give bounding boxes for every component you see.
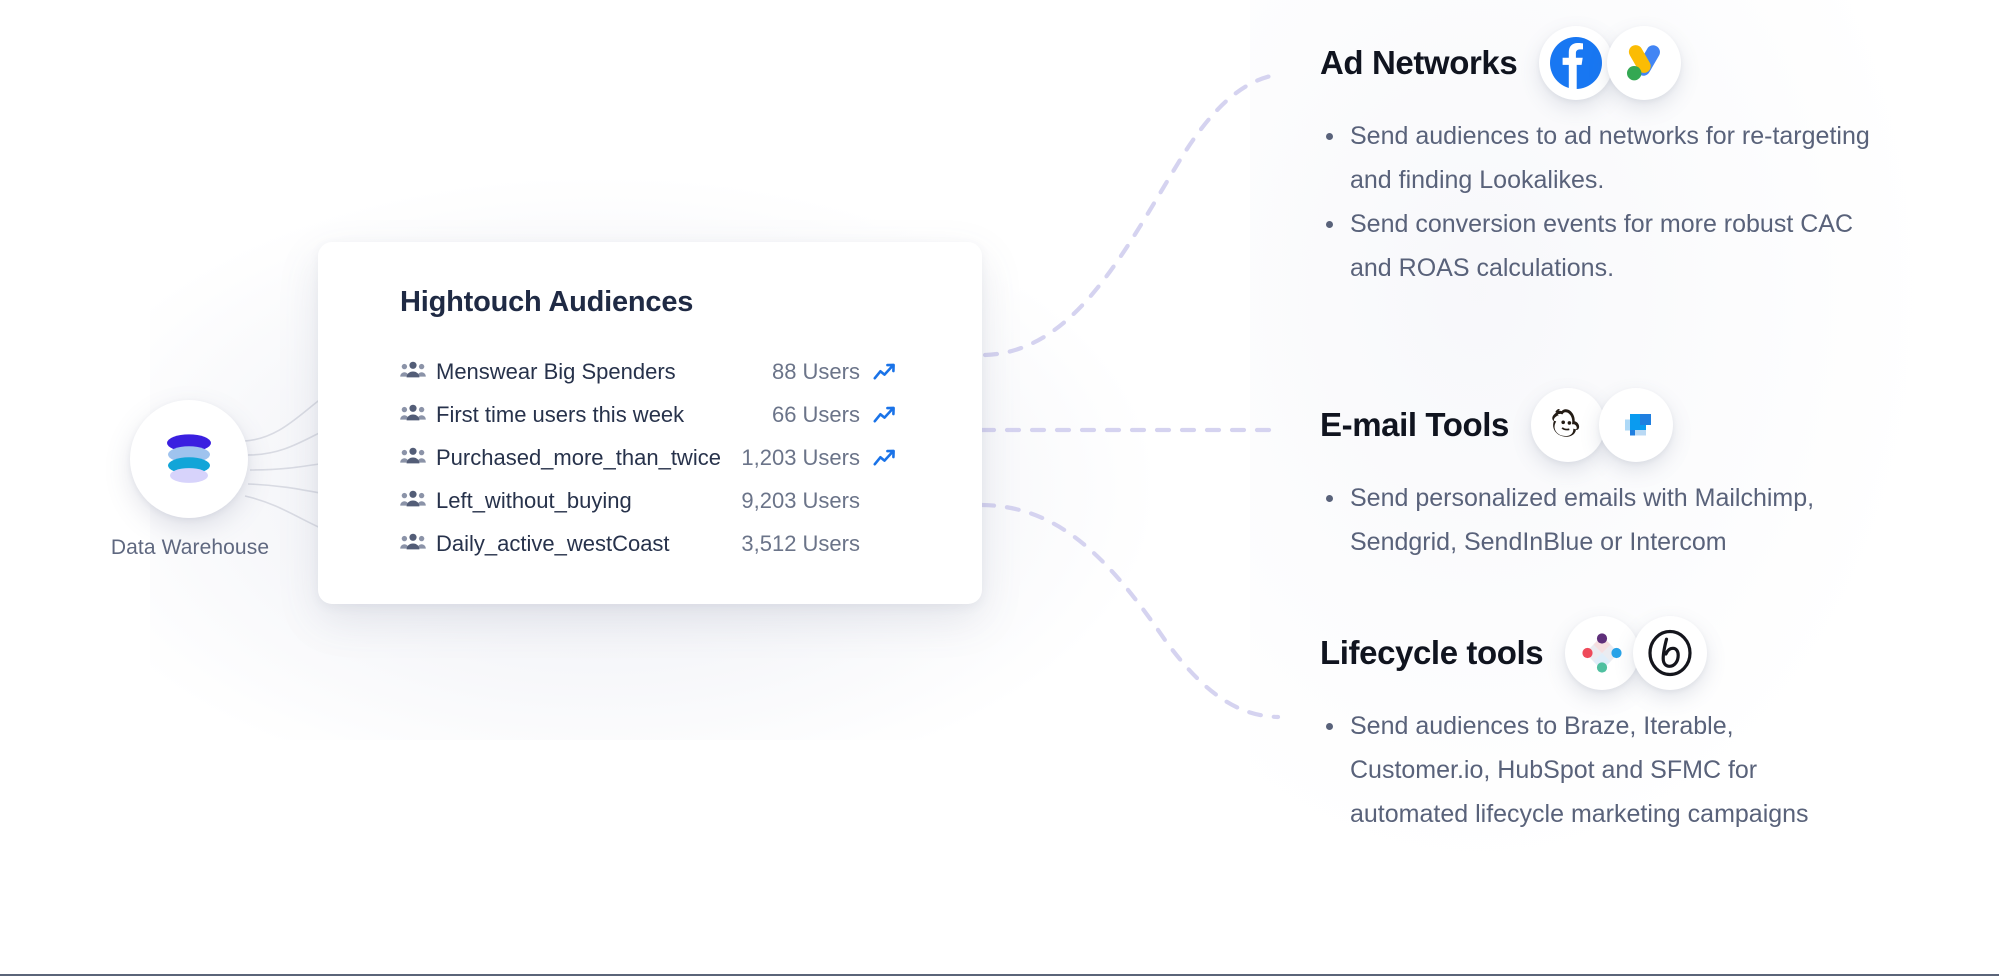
logo-group <box>1539 26 1681 100</box>
trending-up-icon <box>870 449 900 467</box>
bullet-item: Send conversion events for more robust C… <box>1320 202 1880 290</box>
logo-group <box>1531 388 1673 462</box>
bullet-item: Send personalized emails with Mailchimp,… <box>1320 476 1880 564</box>
database-icon <box>158 428 220 490</box>
people-group-icon <box>400 447 430 470</box>
audience-count: 9,203 Users <box>741 488 860 514</box>
section-bullets: Send audiences to ad networks for re-tar… <box>1320 114 1960 290</box>
audience-name: Purchased_more_than_twice <box>436 445 721 471</box>
audience-count: 66 Users <box>772 402 860 428</box>
trending-up-icon <box>870 535 900 553</box>
audience-name: Left_without_buying <box>436 488 632 514</box>
audience-row[interactable]: Purchased_more_than_twice1,203 Users <box>400 436 900 480</box>
audience-count: 3,512 Users <box>741 531 860 557</box>
braze-logo[interactable] <box>1633 616 1707 690</box>
audience-count: 88 Users <box>772 359 860 385</box>
audience-name: Daily_active_westCoast <box>436 531 670 557</box>
section-title: Lifecycle tools <box>1320 634 1543 672</box>
card-title: Hightouch Audiences <box>400 286 693 319</box>
section-title: E-mail Tools <box>1320 406 1509 444</box>
people-group-icon <box>400 361 430 384</box>
google-ads-logo[interactable] <box>1607 26 1681 100</box>
audience-count: 1,203 Users <box>741 445 860 471</box>
section-bullets: Send personalized emails with Mailchimp,… <box>1320 476 1960 564</box>
audience-row[interactable]: First time users this week66 Users <box>400 393 900 437</box>
section-lifecycle-tools: Lifecycle tools <box>1320 608 1960 836</box>
section-title: Ad Networks <box>1320 44 1517 82</box>
sendinblue-logo[interactable] <box>1599 388 1673 462</box>
audience-name: First time users this week <box>436 402 684 428</box>
logo-group <box>1565 616 1707 690</box>
audience-row[interactable]: Daily_active_westCoast3,512 Users <box>400 522 900 566</box>
people-group-icon <box>400 533 430 556</box>
trending-up-icon <box>870 406 900 424</box>
people-group-icon <box>400 404 430 427</box>
trending-up-icon <box>870 363 900 381</box>
trending-up-icon <box>870 492 900 510</box>
people-group-icon <box>400 490 430 513</box>
mailchimp-logo[interactable] <box>1531 388 1605 462</box>
bullet-item: Send audiences to Braze, Iterable, Custo… <box>1320 704 1880 836</box>
audience-row[interactable]: Menswear Big Spenders88 Users <box>400 350 900 394</box>
section-bullets: Send audiences to Braze, Iterable, Custo… <box>1320 704 1960 836</box>
connector-to-ad-networks <box>985 75 1275 355</box>
section-header: Lifecycle tools <box>1320 608 1960 698</box>
section-email-tools: E-mail Tools <box>1320 380 1960 564</box>
bullet-item: Send audiences to ad networks for re-tar… <box>1320 114 1880 202</box>
connector-to-lifecycle-tools <box>982 505 1278 717</box>
customerio-logo[interactable] <box>1565 616 1639 690</box>
data-warehouse-node[interactable] <box>130 400 248 518</box>
diagram-canvas: Data Warehouse Hightouch Audiences Mensw… <box>0 0 1999 976</box>
section-ad-networks: Ad Networks Send audience <box>1320 18 1960 290</box>
data-warehouse-label: Data Warehouse <box>40 536 340 560</box>
section-header: E-mail Tools <box>1320 380 1960 470</box>
audience-name: Menswear Big Spenders <box>436 359 676 385</box>
facebook-logo[interactable] <box>1539 26 1613 100</box>
section-header: Ad Networks <box>1320 18 1960 108</box>
audience-row[interactable]: Left_without_buying9,203 Users <box>400 479 900 523</box>
